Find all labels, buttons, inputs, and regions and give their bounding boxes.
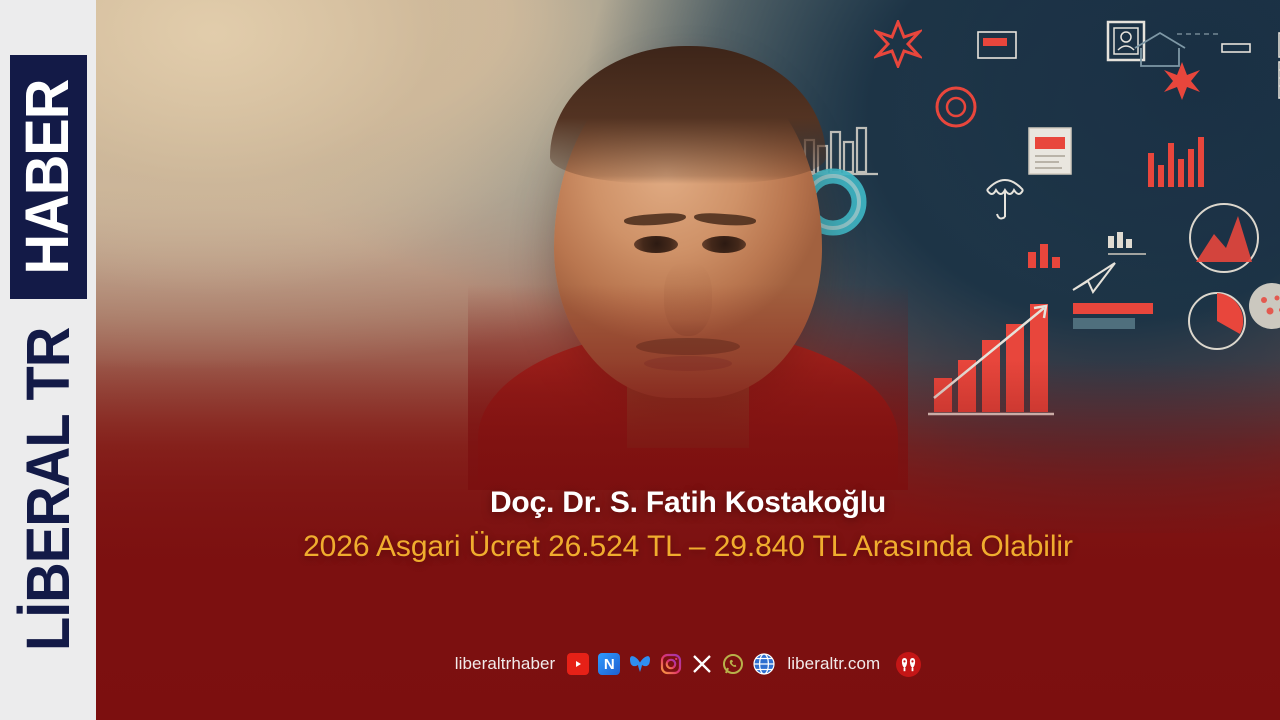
news-thumbnail-canvas: LİBERAL TR HABER [0, 0, 1280, 720]
news-n-icon[interactable]: N [598, 653, 620, 675]
social-footer-bar: liberaltrhaber N [96, 648, 1280, 680]
brand-name-liberal-tr: LİBERAL TR [18, 327, 79, 650]
instagram-icon[interactable] [660, 653, 682, 675]
social-handle-label: liberaltrhaber [455, 654, 556, 674]
x-twitter-icon[interactable] [691, 653, 713, 675]
speaker-name-label: Doç. Dr. S. Fatih Kostakoğlu [96, 486, 1280, 520]
brand-badge-label: HABER [17, 80, 78, 275]
globe-icon[interactable] [753, 653, 775, 675]
headline-label: 2026 Asgari Ücret 26.524 TL – 29.840 TL … [96, 530, 1280, 564]
brand-badge-haber: HABER [10, 55, 87, 299]
liberaltr-emblem-icon[interactable] [896, 652, 921, 677]
brand-lockup: LİBERAL TR HABER [0, 0, 96, 720]
youtube-icon[interactable] [567, 653, 589, 675]
brand-rail: LİBERAL TR HABER [0, 0, 96, 720]
bluesky-icon[interactable] [629, 653, 651, 675]
main-artwork [96, 0, 1280, 720]
website-label: liberaltr.com [787, 654, 880, 674]
whatsapp-icon[interactable] [722, 653, 744, 675]
